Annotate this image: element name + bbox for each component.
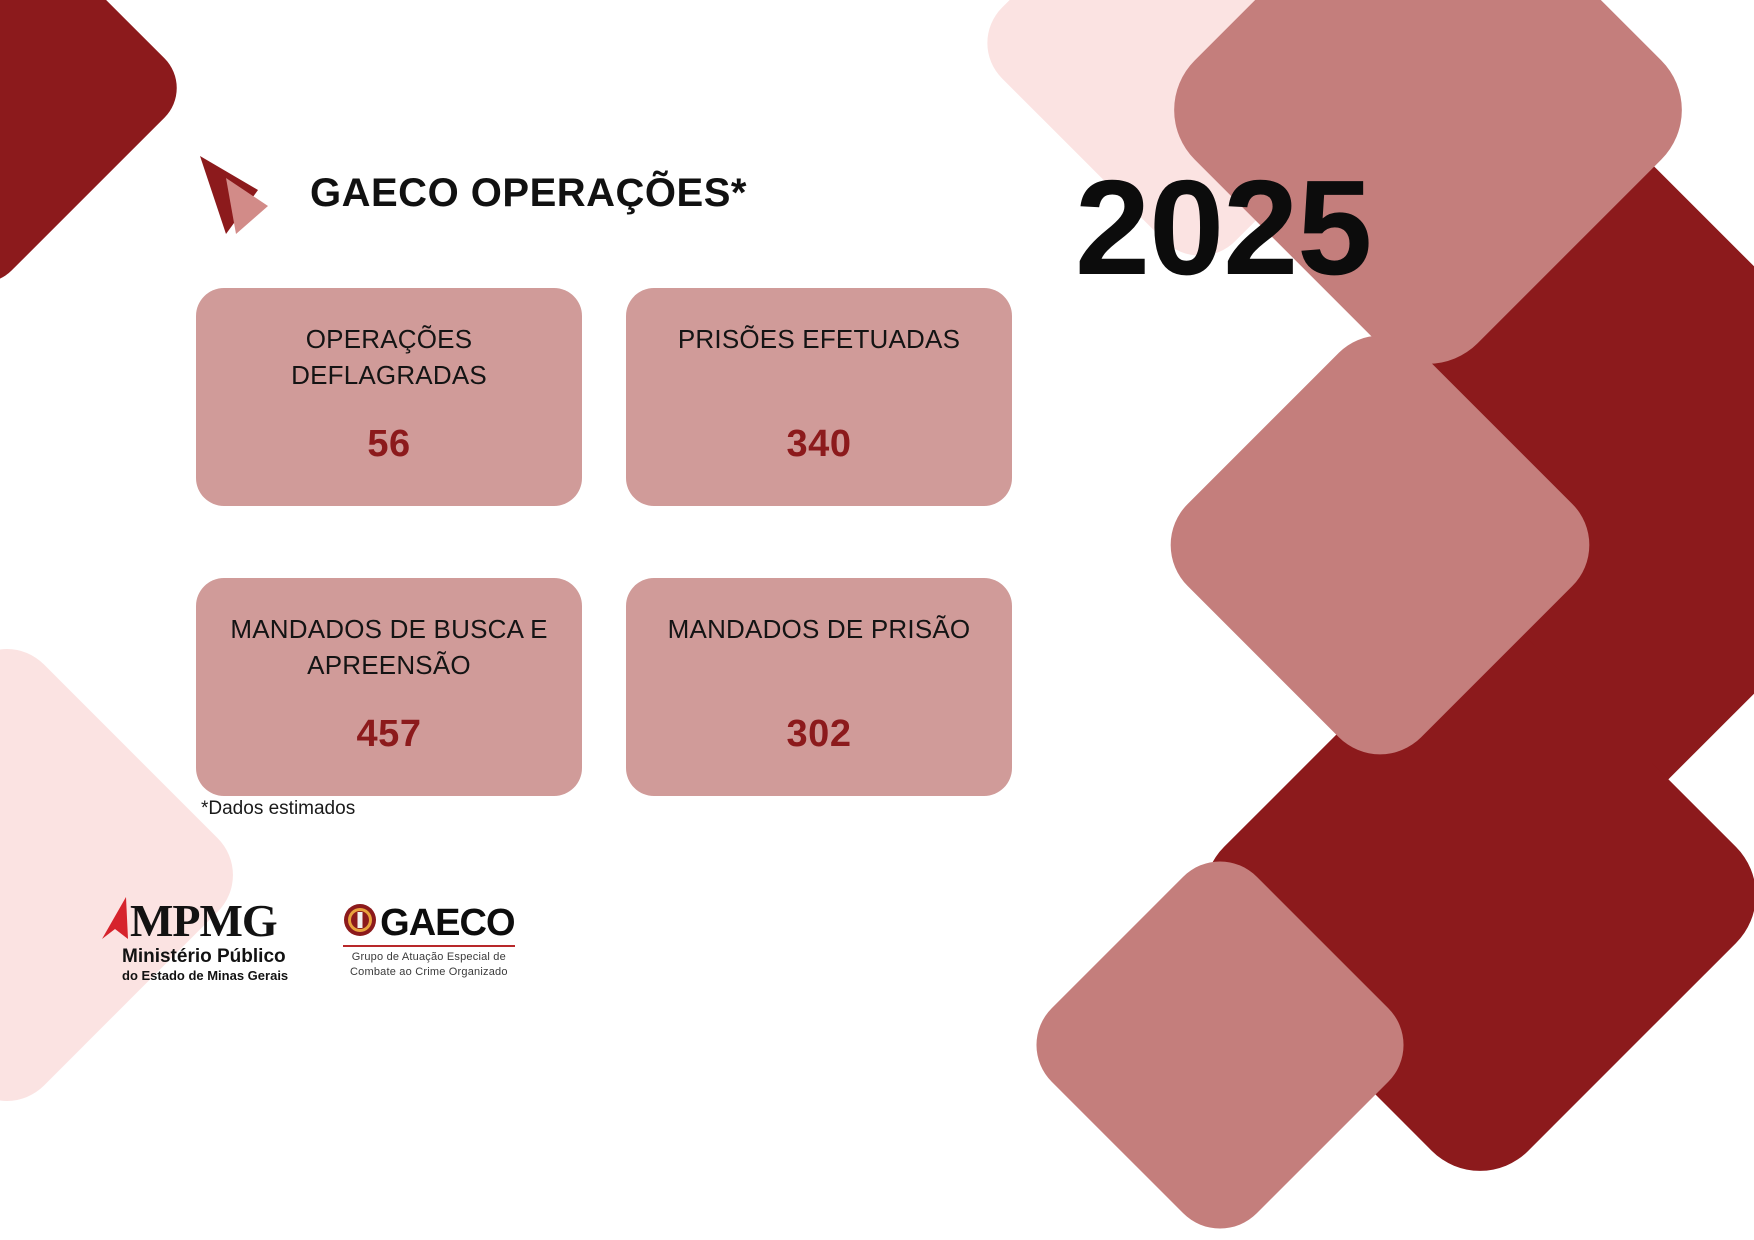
footnote-text: *Dados estimados <box>201 798 355 820</box>
stat-card-label: OPERAÇÕES DEFLAGRADAS <box>219 322 559 394</box>
logo-row: MPMG Ministério Público do Estado de Min… <box>100 895 515 983</box>
mpmg-arrow-icon <box>100 895 130 946</box>
gaeco-logo: GAECO Grupo de Atuação Especial de Comba… <box>343 903 514 980</box>
slide-header: GAECO OPERAÇÕES* <box>196 150 747 236</box>
decorative-shape-right-rose-lower <box>1015 840 1425 1240</box>
decorative-shape-top-left <box>0 0 194 300</box>
stat-card-value: 457 <box>357 713 422 756</box>
stat-card-mandados-busca-apreensao[interactable]: MANDADOS DE BUSCA E APREENSÃO 457 <box>196 578 582 796</box>
stat-card-mandados-prisao[interactable]: MANDADOS DE PRISÃO 302 <box>626 578 1012 796</box>
stat-card-value: 302 <box>787 713 852 756</box>
stat-card-operacoes-deflagradas[interactable]: OPERAÇÕES DEFLAGRADAS 56 <box>196 288 582 506</box>
gaeco-subtitle-line-1: Grupo de Atuação Especial de <box>343 950 514 965</box>
stat-card-label: PRISÕES EFETUADAS <box>678 322 960 358</box>
mpmg-subtitle-line-2: do Estado de Minas Gerais <box>122 968 288 984</box>
gaeco-wordmark: GAECO <box>380 904 514 942</box>
year-label: 2025 <box>1075 160 1371 295</box>
mpmg-wordmark: MPMG <box>130 899 277 943</box>
arrow-triangle-icon <box>196 150 274 236</box>
decorative-shape-right-dark-lower <box>1176 591 1754 1199</box>
stat-card-value: 56 <box>367 423 410 466</box>
decorative-shape-right-rose-middle <box>1147 312 1614 779</box>
mpmg-wordmark-row: MPMG <box>100 895 277 946</box>
page-title: GAECO OPERAÇÕES* <box>310 171 747 216</box>
mpmg-subtitle-line-1: Ministério Público <box>122 947 286 968</box>
gaeco-subtitle-line-2: Combate ao Crime Organizado <box>343 965 514 980</box>
stat-card-prisoes-efetuadas[interactable]: PRISÕES EFETUADAS 340 <box>626 288 1012 506</box>
stat-card-grid: OPERAÇÕES DEFLAGRADAS 56 PRISÕES EFETUAD… <box>196 288 1012 796</box>
stat-card-value: 340 <box>787 423 852 466</box>
stat-card-label: MANDADOS DE BUSCA E APREENSÃO <box>219 612 559 684</box>
gaeco-wordmark-row: GAECO <box>343 903 514 942</box>
mpmg-logo: MPMG Ministério Público do Estado de Min… <box>100 895 288 983</box>
gaeco-shield-icon <box>343 903 377 942</box>
gaeco-divider <box>343 945 514 947</box>
stat-card-label: MANDADOS DE PRISÃO <box>668 612 971 648</box>
slide-canvas: GAECO OPERAÇÕES* 2025 OPERAÇÕES DEFLAGRA… <box>0 0 1754 1240</box>
